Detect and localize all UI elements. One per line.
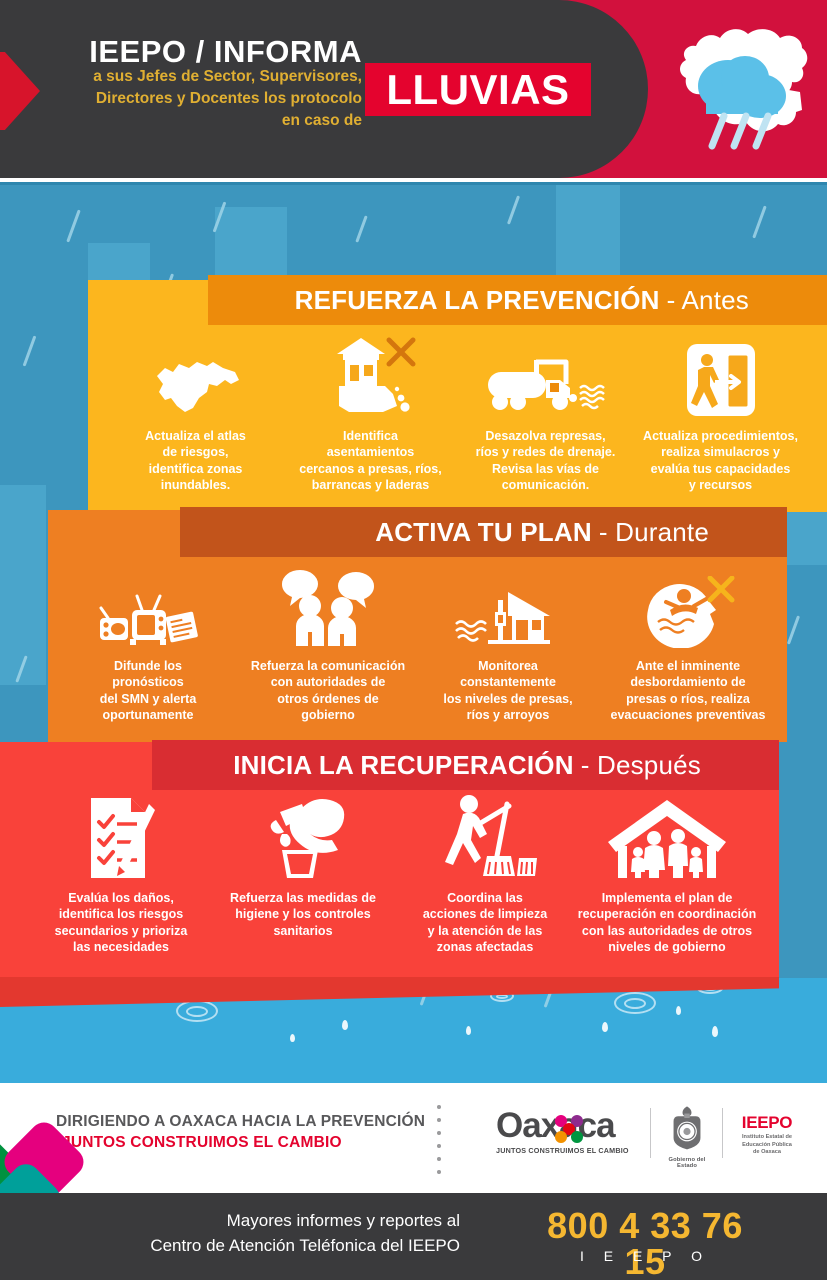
list-item: Refuerza las medidas dehigiene y los con… <box>212 794 394 955</box>
evacuation-exit-icon <box>685 332 757 418</box>
radio-tv-newspaper-icon <box>98 562 198 648</box>
header-subtitle-line-1: a sus Jefes de Sector, Supervisores, <box>44 66 362 88</box>
section-prevention-items: Actualiza el atlasde riesgos,identifica … <box>108 332 808 493</box>
list-item-caption: Desazolva represas,ríos y redes de drena… <box>476 428 616 493</box>
checklist-pencil-icon <box>85 794 157 880</box>
rain-streak <box>507 195 520 224</box>
list-item: Monitoreaconstantementelos niveles de pr… <box>418 562 598 723</box>
list-item-caption: Identificaasentamientoscercanos a presas… <box>299 428 441 493</box>
infographic-page: IEEPO / INFORMA a sus Jefes de Sector, S… <box>0 0 827 1280</box>
list-item-caption: Coordina lasacciones de limpiezay la ate… <box>423 890 547 955</box>
list-item-caption: Difunde lospronósticosdel SMN y alertaop… <box>100 658 197 723</box>
oaxaca-logo-tagline: JUNTOS CONSTRUIMOS EL CAMBIO <box>496 1146 642 1155</box>
section-activate-plan-items: Difunde lospronósticosdel SMN y alertaop… <box>58 562 778 723</box>
contact-line-1: Mayores informes y reportes al <box>120 1209 460 1234</box>
section-activate-plan: ACTIVA TU PLAN - Durante <box>48 510 787 742</box>
rain-streak <box>787 615 800 644</box>
water-droplet <box>676 1006 681 1015</box>
dotted-separator <box>437 1105 441 1183</box>
header-subtitle-line-3: en caso de <box>44 110 362 132</box>
ieepo-sub-line-1: Instituto Estatal de <box>726 1134 808 1142</box>
list-item-caption: Ante el inminentedesbordamiento depresas… <box>611 658 766 723</box>
page-title: IEEPO / INFORMA <box>62 36 362 67</box>
section-recovery-header: INICIA LA RECUPERACIÓN - Después <box>152 740 779 790</box>
person-sweeping-broom-icon <box>433 794 537 880</box>
rain-streak <box>66 210 80 243</box>
gobierno-del-estado-logo: Gobierno del Estado <box>658 1104 716 1166</box>
section-activate-plan-header: ACTIVA TU PLAN - Durante <box>180 507 787 557</box>
ieepo-sub-line-2: Educación Pública <box>726 1142 808 1150</box>
section-prevention-subtitle: - Antes <box>667 285 749 316</box>
section-prevention-title: REFUERZA LA PREVENCIÓN <box>295 285 660 316</box>
contact-phone-sublabel: I E E P O <box>525 1248 765 1264</box>
building-silhouette <box>580 185 596 189</box>
water-droplet <box>466 1026 471 1035</box>
list-item: Desazolva represas,ríos y redes de drena… <box>458 332 633 493</box>
contact-text: Mayores informes y reportes al Centro de… <box>120 1209 460 1258</box>
list-item: Coordina lasacciones de limpiezay la ate… <box>394 794 576 955</box>
list-item-caption: Actualiza procedimientos,realiza simulac… <box>643 428 798 493</box>
oaxaca-logo: Oaxaca JUNTOS CONSTRUIMOS EL CAMBIO <box>496 1108 642 1164</box>
ieepo-logo: IEEPO Instituto Estatal de Educación Púb… <box>726 1114 808 1157</box>
list-item: Ante el inminentedesbordamiento depresas… <box>598 562 778 723</box>
ieepo-logo-word: IEEPO <box>726 1114 808 1131</box>
section-recovery-title: INICIA LA RECUPERACIÓN <box>233 750 573 781</box>
list-item-caption: Monitoreaconstantementelos niveles de pr… <box>443 658 572 723</box>
lluvias-badge-label: LLUVIAS <box>386 69 569 111</box>
logo-divider <box>650 1108 651 1158</box>
list-item: Actualiza procedimientos,realiza simulac… <box>633 332 808 493</box>
list-item-caption: Implementa el plan derecuperación en coo… <box>578 890 757 955</box>
list-item: Actualiza el atlasde riesgos,identifica … <box>108 332 283 493</box>
list-item: Identificaasentamientoscercanos a presas… <box>283 332 458 493</box>
rain-streak <box>752 206 766 239</box>
list-item-caption: Actualiza el atlasde riesgos,identifica … <box>145 428 246 493</box>
logo-divider-2 <box>722 1108 723 1158</box>
list-item-caption: Refuerza las medidas dehigiene y los con… <box>230 890 376 939</box>
water-droplet <box>712 1026 718 1037</box>
list-item: Evalúa los daños,identifica los riesgoss… <box>30 794 212 955</box>
list-item: Refuerza la comunicacióncon autoridades … <box>238 562 418 723</box>
water-ripple <box>624 998 646 1009</box>
section-activate-plan-title: ACTIVA TU PLAN <box>375 517 592 548</box>
contact-phone-number[interactable]: 800 4 33 76 15 <box>525 1208 765 1280</box>
list-item: Difunde lospronósticosdel SMN y alertaop… <box>58 562 238 723</box>
ieepo-logo-subtitle: Instituto Estatal de Educación Pública d… <box>726 1134 808 1157</box>
footer-slogan-line-1: DIRIGIENDO A OAXACA HACIA LA PREVENCIÓN <box>56 1113 425 1131</box>
water-droplet <box>290 1034 295 1042</box>
list-item: Implementa el plan derecuperación en coo… <box>576 794 758 955</box>
water-droplet <box>602 1022 608 1032</box>
two-people-speech-bubbles-icon <box>276 562 380 648</box>
house-landslide-cross-icon <box>323 332 419 418</box>
lluvias-badge: LLUVIAS <box>365 63 591 116</box>
building-silhouette <box>556 185 620 275</box>
rain-streak <box>355 215 367 242</box>
header-subtitle: a sus Jefes de Sector, Supervisores, Dir… <box>44 66 362 132</box>
building-silhouette <box>215 207 287 277</box>
oaxaca-map-rain-cloud-icon <box>650 18 820 160</box>
rain-streak <box>23 335 37 366</box>
list-item-caption: Evalúa los daños,identifica los riesgoss… <box>55 890 188 955</box>
gobierno-logo-caption: Gobierno del Estado <box>658 1157 716 1169</box>
family-shelter-house-icon <box>606 794 728 880</box>
section-recovery: INICIA LA RECUPERACIÓN - Después <box>0 742 779 982</box>
contact-line-2: Centro de Atención Teléfonica del IEEPO <box>120 1234 460 1259</box>
section-prevention-header: REFUERZA LA PREVENCIÓN - Antes <box>208 275 827 325</box>
flood-swimmer-cross-icon <box>640 562 736 648</box>
house-flood-gauge-icon <box>454 562 562 648</box>
header-banner: IEEPO / INFORMA a sus Jefes de Sector, S… <box>0 0 827 178</box>
water-ripple <box>186 1006 208 1017</box>
section-recovery-subtitle: - Después <box>581 750 701 781</box>
section-recovery-items: Evalúa los daños,identifica los riesgoss… <box>30 794 760 955</box>
hand-pouring-water-glass-icon <box>260 794 346 880</box>
header-subtitle-line-2: Directores y Docentes los protocolo <box>44 88 362 110</box>
section-activate-plan-subtitle: - Durante <box>599 517 709 548</box>
tanker-truck-drainage-icon <box>484 332 608 418</box>
escudo-oaxaca-icon <box>661 1104 713 1150</box>
ieepo-sub-line-3: de Oaxaca <box>726 1149 808 1157</box>
oaxaca-map-icon <box>151 332 241 418</box>
list-item-caption: Refuerza la comunicacióncon autoridades … <box>251 658 405 723</box>
water-droplet <box>342 1020 348 1030</box>
building-silhouette <box>0 485 46 685</box>
section-prevention: REFUERZA LA PREVENCIÓN - Antes Actualiza… <box>88 280 827 512</box>
oaxaca-logo-x-dots-icon <box>552 1112 586 1146</box>
